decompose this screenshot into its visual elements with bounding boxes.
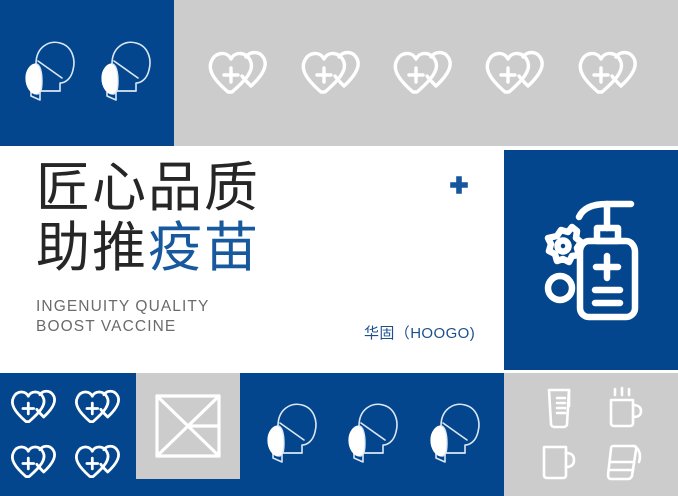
headline-line-1: 匠心品质 [36,158,456,218]
double-heart-plus-icon [6,439,66,485]
double-heart-plus-icon [70,384,130,430]
double-heart-plus-icon [295,44,373,102]
measuring-beaker-icon [540,386,578,430]
bottom-heart-group [0,373,136,496]
masked-head-icon [94,34,156,112]
sanitizer-illustration [504,150,678,370]
image-placeholder [136,373,240,479]
double-heart-plus-icon [6,384,66,430]
top-heart-group [174,0,678,146]
double-heart-plus-icon [202,44,280,102]
steaming-cup-icon [603,386,645,430]
double-heart-plus-icon [479,44,557,102]
headline-block: 匠心品质 助推疫苗 [36,158,456,278]
headline-line-2-dark: 助推 [36,218,148,278]
bottom-vessel-group [504,373,678,496]
masked-head-icon [260,396,322,474]
top-mask-group [0,0,174,146]
subtitle-block: INGENUITY QUALITY BOOST VACCINE [36,297,209,337]
masked-head-icon [18,34,80,112]
double-heart-plus-icon [70,439,130,485]
headline-line-2: 助推疫苗 [36,218,456,278]
mug-icon [538,440,580,482]
bottom-mask-group [240,373,504,496]
subtitle-line-1: INGENUITY QUALITY [36,297,209,317]
headline-line-2-accent: 疫苗 [148,218,260,278]
plus-icon [448,174,470,196]
masked-head-icon [341,396,403,474]
subtitle-line-2: BOOST VACCINE [36,317,209,337]
poster-canvas: 匠心品质 助推疫苗 INGENUITY QUALITY BOOST VACCIN… [0,0,678,496]
masked-head-icon [423,396,485,474]
double-heart-plus-icon [387,44,465,102]
kettle-icon [601,440,647,482]
double-heart-plus-icon [572,44,650,102]
brand-name: 华固（HOOGO) [364,322,475,343]
